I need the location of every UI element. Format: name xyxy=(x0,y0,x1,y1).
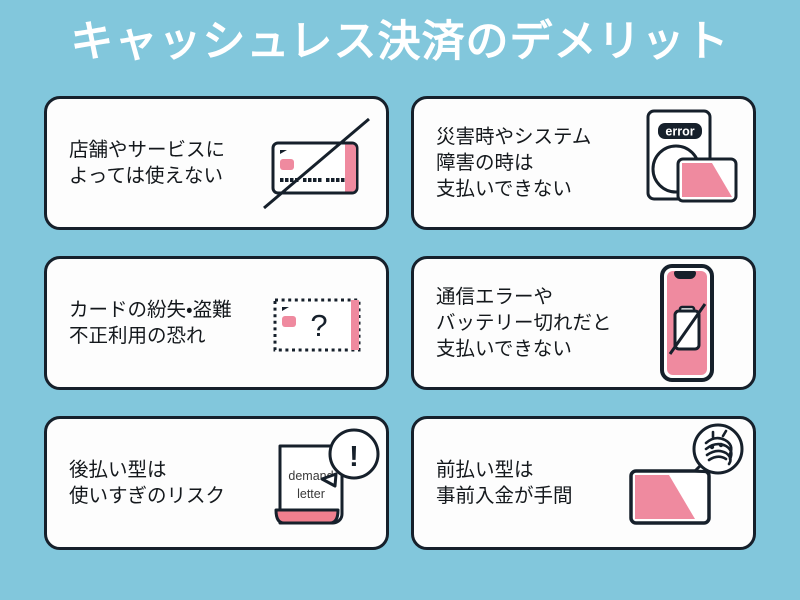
demand-letter-line-1: demand xyxy=(288,469,333,483)
card-network-battery-text: 通信エラーや バッテリー切れだと 支払いできない xyxy=(414,284,612,362)
payment-terminal-error-icon: error xyxy=(625,99,745,227)
card-postpay-overspend-text: 後払い型は 使いすぎのリスク xyxy=(47,457,225,509)
demerit-card-grid: 店舗やサービスに よっては使えない xyxy=(44,96,756,558)
card-prepay-topup[interactable]: 前払い型は 事前入金が手間 xyxy=(411,416,756,550)
infographic-poster: キャッシュレス決済のデメリット 店舗やサービスに よっては使えない xyxy=(0,0,800,600)
smartphone-dead-battery-icon xyxy=(625,259,745,387)
card-network-battery[interactable]: 通信エラーや バッテリー切れだと 支払いできない xyxy=(411,256,756,390)
card-postpay-overspend[interactable]: 後払い型は 使いすぎのリスク demand letter ! xyxy=(44,416,389,550)
page-title: キャッシュレス決済のデメリット xyxy=(0,12,800,72)
card-prepay-topup-text: 前払い型は 事前入金が手間 xyxy=(414,457,573,509)
card-loss-theft[interactable]: カードの紛失・盗難 不正利用の恐れ ? xyxy=(44,256,389,390)
card-disaster-system-failure[interactable]: 災害時やシステム 障害の時は 支払いできない error xyxy=(411,96,756,230)
lost-card-question-icon: ? xyxy=(258,259,378,387)
prepaid-card-annoyance-icon xyxy=(625,419,745,547)
credit-card-crossed-out-icon xyxy=(258,99,378,227)
question-mark-label: ? xyxy=(310,308,327,343)
card-loss-theft-text: カードの紛失・盗難 不正利用の恐れ xyxy=(47,297,232,349)
card-disaster-system-failure-text: 災害時やシステム 障害の時は 支払いできない xyxy=(414,124,591,202)
demand-letter-icon: demand letter ! xyxy=(258,419,378,547)
demand-letter-line-2: letter xyxy=(297,487,325,501)
card-store-service[interactable]: 店舗やサービスに よっては使えない xyxy=(44,96,389,230)
terminal-error-label: error xyxy=(665,125,694,139)
exclamation-label: ! xyxy=(349,441,359,473)
card-store-service-text: 店舗やサービスに よっては使えない xyxy=(47,137,225,189)
